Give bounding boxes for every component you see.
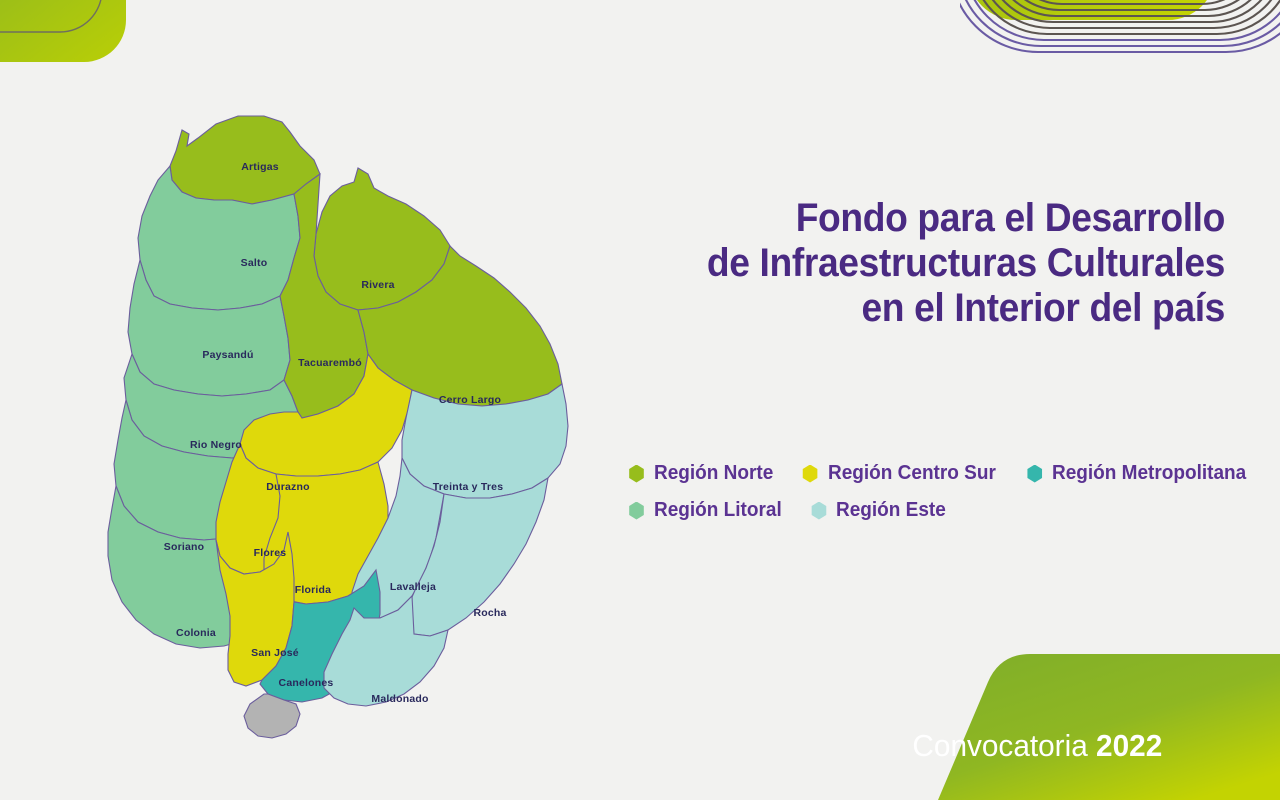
page-title-line-3: en el Interior del país: [667, 286, 1225, 331]
map-label-maldonado: Maldonado: [371, 693, 428, 705]
region-legend: Región Norte Región Centro Sur Región Me…: [628, 462, 1268, 536]
legend-label-region-este: Región Este: [836, 499, 946, 522]
map-label-durazno: Durazno: [266, 481, 309, 493]
map-label-soriano: Soriano: [164, 541, 205, 553]
hexagon-marker-icon: [628, 465, 645, 483]
footer-year: 2022: [1096, 728, 1162, 763]
hexagon-marker-icon: [810, 502, 827, 520]
map-label-lavalleja: Lavalleja: [390, 581, 436, 593]
footer-call-label: Convocatoria 2022: [912, 728, 1162, 764]
page-title: Fondo para el Desarrollo de Infraestruct…: [625, 196, 1225, 331]
legend-item-region-litoral[interactable]: Región Litoral: [628, 499, 788, 522]
legend-item-region-centro-sur[interactable]: Región Centro Sur: [802, 462, 1005, 485]
map-label-salto: Salto: [241, 257, 268, 269]
hexagon-marker-icon: [1026, 465, 1043, 483]
legend-item-region-este[interactable]: Región Este: [810, 499, 952, 522]
legend-label-region-centro-sur: Región Centro Sur: [828, 462, 996, 485]
map-label-tacuaremb-: Tacuarembó: [298, 357, 362, 369]
map-label-flores: Flores: [254, 547, 287, 559]
hexagon-marker-icon: [628, 502, 645, 520]
legend-row-1: Región Norte Región Centro Sur Región Me…: [628, 462, 1268, 485]
map-label-cerro-largo: Cerro Largo: [439, 394, 501, 406]
hexagon-marker-icon: [802, 465, 819, 483]
legend-row-2: Región Litoral Región Este: [628, 499, 1268, 522]
legend-item-region-metropolitana[interactable]: Región Metropolitana: [1026, 462, 1256, 485]
map-label-san-jos-: San José: [251, 647, 299, 659]
page-title-line-1: Fondo para el Desarrollo: [667, 196, 1225, 241]
legend-label-region-metropolitana: Región Metropolitana: [1052, 462, 1246, 485]
map-label-rio-negro: Rio Negro: [190, 439, 242, 451]
legend-label-region-norte: Región Norte: [654, 462, 773, 485]
footer-word: Convocatoria: [912, 728, 1087, 763]
content-column: Fondo para el Desarrollo de Infraestruct…: [600, 0, 1280, 800]
map-label-rocha: Rocha: [473, 607, 506, 619]
map-label-paysand-: Paysandú: [202, 349, 253, 361]
decoration-top-left: [0, 0, 142, 78]
map-label-treinta-y-tres: Treinta y Tres: [433, 481, 504, 493]
map-label-artigas: Artigas: [241, 161, 279, 173]
map-label-colonia: Colonia: [176, 627, 216, 639]
legend-item-region-norte[interactable]: Región Norte: [628, 462, 780, 485]
map-svg: ArtigasSaltoRiveraPaysandúTacuarembóCerr…: [58, 88, 606, 750]
page-title-line-2: de Infraestructuras Culturales: [667, 241, 1225, 286]
legend-label-region-litoral: Región Litoral: [654, 499, 782, 522]
uruguay-regions-map: ArtigasSaltoRiveraPaysandúTacuarembóCerr…: [58, 88, 606, 750]
map-label-florida: Florida: [295, 584, 331, 596]
map-label-canelones: Canelones: [279, 677, 334, 689]
map-label-rivera: Rivera: [361, 279, 394, 291]
